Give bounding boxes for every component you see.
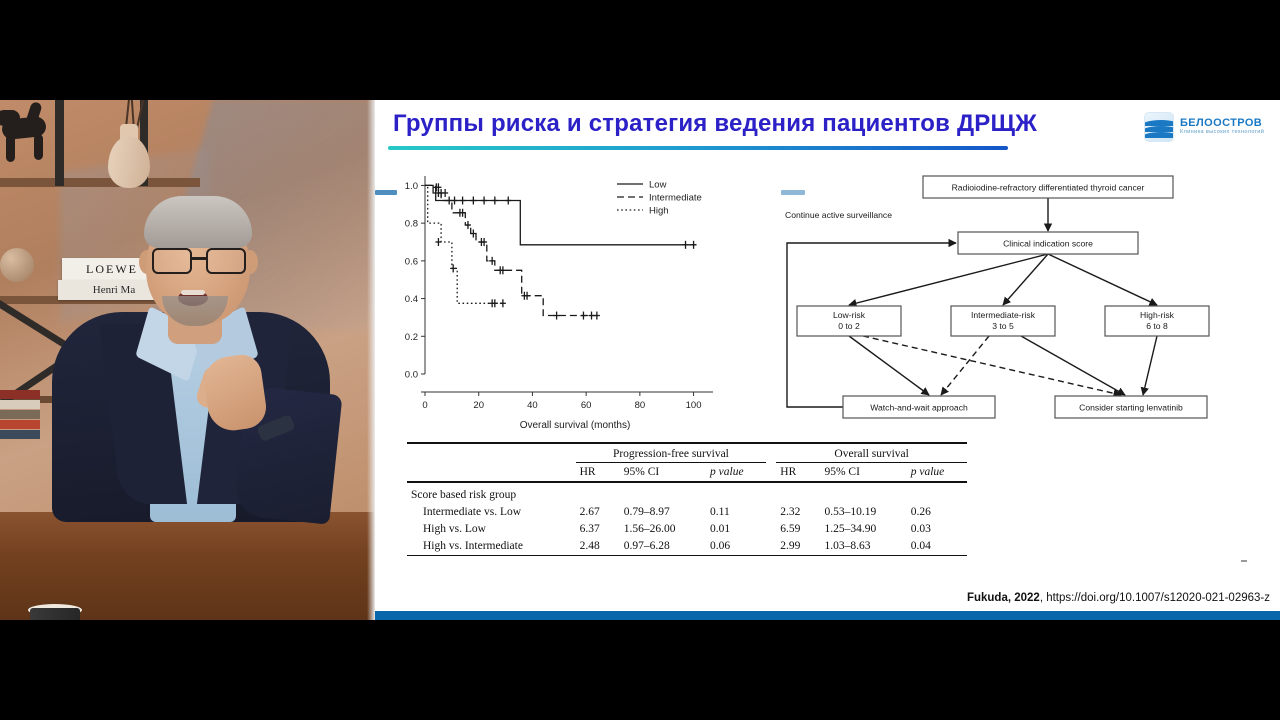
flow-node-high: High-risk6 to 8 xyxy=(1105,306,1209,336)
row-pfs-ci: 1.56–26.00 xyxy=(620,521,706,538)
table-foot xyxy=(407,555,967,559)
y-tick-label: 0.8 xyxy=(405,219,418,230)
hazard-ratio-table: Progression-free survival Overall surviv… xyxy=(407,442,967,559)
km-curve-intermediate xyxy=(425,185,597,315)
table-column-header-row: HR 95% CI p value HR 95% CI p value xyxy=(407,463,967,483)
presentation-slide: Группы риска и стратегия ведения пациент… xyxy=(375,100,1280,620)
table-row: Intermediate vs. Low2.670.79–8.970.112.3… xyxy=(407,504,967,521)
flow-node-watch: Watch-and-wait approach xyxy=(843,396,995,418)
flow-node-label: Intermediate-risk xyxy=(971,310,1036,320)
col-head-pfs-hr: HR xyxy=(576,463,620,483)
presenter-teeth xyxy=(181,290,205,295)
legend-label-intermediate: Intermediate xyxy=(649,193,702,204)
shelf-board-top xyxy=(0,178,200,187)
censor-mark xyxy=(481,197,487,205)
table-bottom-rule xyxy=(407,555,967,559)
censor-mark xyxy=(470,197,476,205)
flow-node-sublabel: 0 to 2 xyxy=(838,321,860,331)
flowchart-nodes: Radioiodine-refractory differentiated th… xyxy=(785,176,1209,418)
row-label: High vs. Low xyxy=(407,521,576,538)
flow-node-low: Low-risk0 to 2 xyxy=(797,306,901,336)
group-header-blank xyxy=(407,443,576,463)
col-head-os-hr: HR xyxy=(776,463,820,483)
logo-wave-line-3 xyxy=(1144,132,1174,138)
table-group-header-row: Progression-free survival Overall surviv… xyxy=(407,443,967,463)
book-spine-red xyxy=(0,390,40,399)
censor-mark xyxy=(492,197,498,205)
flow-edge-label-continue-surveillance: Continue active surveillance xyxy=(785,210,892,220)
group-header-os: Overall survival xyxy=(776,443,967,463)
row-pfs-p: 0.11 xyxy=(706,504,766,521)
edge-intermediate-to-lenvatinib xyxy=(1021,336,1125,395)
row-label: Intermediate vs. Low xyxy=(407,504,576,521)
flow-node-sublabel: 6 to 8 xyxy=(1146,321,1168,331)
presenter-glasses-icon xyxy=(150,248,248,274)
col-head-pfs-p: p value xyxy=(706,463,766,483)
censor-mark xyxy=(500,299,506,307)
citation-doi: , https://doi.org/10.1007/s12020-021-029… xyxy=(1040,592,1270,604)
row-pfs-hr: 6.37 xyxy=(576,521,620,538)
row-pfs-hr: 2.48 xyxy=(576,538,620,556)
balloon-dog-leg-back-icon xyxy=(34,134,43,160)
edge-score-to-low xyxy=(849,254,1048,305)
table-section-label: Score based risk group xyxy=(407,482,967,504)
flow-node-label: High-risk xyxy=(1140,310,1175,320)
edge-low-to-watch xyxy=(849,336,929,395)
y-tick-label: 0.2 xyxy=(405,332,418,343)
row-pfs-p: 0.01 xyxy=(706,521,766,538)
kaplan-meier-survival-chart: 0.00.20.40.60.81.0020406080100 LowInterm… xyxy=(385,162,745,437)
row-pfs-ci: 0.97–6.28 xyxy=(620,538,706,556)
table-row: High vs. Intermediate2.480.97–6.280.062.… xyxy=(407,538,967,556)
flow-node-label: Watch-and-wait approach xyxy=(870,403,968,413)
page-title: Группы риска и стратегия ведения пациент… xyxy=(393,110,1037,138)
logo-tagline: Клиника высоких технологий xyxy=(1180,130,1264,136)
row-os-ci: 1.25–34.90 xyxy=(820,521,906,538)
book-spine-brown xyxy=(0,410,40,419)
flow-node-root: Radioiodine-refractory differentiated th… xyxy=(923,176,1173,198)
censor-mark xyxy=(450,264,456,272)
glasses-lens-left xyxy=(152,248,192,274)
flow-node-inter: Intermediate-risk3 to 5 xyxy=(951,306,1055,336)
x-tick-label: 60 xyxy=(581,400,592,411)
decorative-sphere xyxy=(0,248,34,282)
row-gap xyxy=(766,538,776,556)
x-tick-label: 0 xyxy=(422,400,427,411)
censor-mark xyxy=(683,241,689,249)
col-head-blank xyxy=(407,463,576,483)
logo-text-block: БЕЛООСТРОВ Клиника высоких технологий xyxy=(1180,118,1264,135)
flow-node-label: Radioiodine-refractory differentiated th… xyxy=(952,183,1145,193)
censor-mark xyxy=(580,312,586,320)
row-pfs-hr: 2.67 xyxy=(576,504,620,521)
chart-legend: LowIntermediateHigh xyxy=(617,180,702,217)
y-tick-label: 1.0 xyxy=(405,181,418,192)
slide-footer-bar xyxy=(375,611,1280,620)
y-tick-label: 0.4 xyxy=(405,294,418,305)
glasses-bridge xyxy=(192,257,206,260)
legend-label-high: High xyxy=(649,206,669,217)
km-curve-high xyxy=(425,185,503,303)
row-os-hr: 2.32 xyxy=(776,504,820,521)
y-tick-label: 0.0 xyxy=(405,370,418,381)
col-head-pfs-ci: 95% CI xyxy=(620,463,706,483)
mouse-cursor-artifact xyxy=(1241,560,1247,562)
x-tick-label: 100 xyxy=(686,400,702,411)
row-gap xyxy=(766,521,776,538)
glasses-lens-right xyxy=(206,248,246,274)
shelf-post-left xyxy=(55,100,64,186)
censor-mark xyxy=(594,312,600,320)
presenter-video-feed: LOEWE Henri Ma xyxy=(0,100,375,620)
x-tick-label: 20 xyxy=(473,400,484,411)
row-os-hr: 6.59 xyxy=(776,521,820,538)
legend-label-low: Low xyxy=(649,180,667,191)
treatment-flowchart: Radioiodine-refractory differentiated th… xyxy=(775,170,1275,435)
balloon-dog-head-icon xyxy=(0,110,20,126)
citation-author: Fukuda, 2022 xyxy=(967,592,1040,604)
edge-high-to-lenvatinib xyxy=(1143,336,1157,395)
group-header-pfs: Progression-free survival xyxy=(576,443,767,463)
presenter-hair xyxy=(144,196,252,248)
flow-node-score: Clinical indication score xyxy=(958,232,1138,254)
results-table: Progression-free survival Overall surviv… xyxy=(407,442,967,559)
censor-mark xyxy=(442,189,448,197)
row-os-p: 0.03 xyxy=(907,521,967,538)
table-section-row: Score based risk group xyxy=(407,482,967,504)
edge-intermediate-to-watch-dashed xyxy=(941,336,989,395)
x-tick-label: 40 xyxy=(527,400,538,411)
chart-curves xyxy=(425,183,697,319)
row-os-p: 0.26 xyxy=(907,504,967,521)
y-tick-label: 0.6 xyxy=(405,256,418,267)
edge-score-to-intermediate xyxy=(1003,254,1048,305)
col-head-os-ci: 95% CI xyxy=(820,463,906,483)
row-label: High vs. Intermediate xyxy=(407,538,576,556)
edge-low-to-lenvatinib-dashed xyxy=(863,336,1121,395)
letterbox-bottom xyxy=(0,620,1280,720)
book-spine-orange xyxy=(0,420,40,429)
row-os-hr: 2.99 xyxy=(776,538,820,556)
row-os-ci: 1.03–8.63 xyxy=(820,538,906,556)
censor-mark xyxy=(435,238,441,246)
row-pfs-p: 0.06 xyxy=(706,538,766,556)
censor-mark xyxy=(589,312,595,320)
censor-mark xyxy=(460,197,466,205)
video-feed-right-edge xyxy=(367,100,375,620)
table-row: High vs. Low6.371.56–26.000.016.591.25–3… xyxy=(407,521,967,538)
edge-score-to-high xyxy=(1048,254,1157,305)
row-os-ci: 0.53–10.19 xyxy=(820,504,906,521)
row-gap xyxy=(766,504,776,521)
title-underline-rule xyxy=(388,146,1008,150)
censor-mark xyxy=(505,197,511,205)
flow-node-label: Consider starting lenvatinib xyxy=(1079,403,1183,413)
col-head-os-p: p value xyxy=(907,463,967,483)
clinic-logo: БЕЛООСТРОВ Клиника высоких технологий xyxy=(1144,110,1270,144)
flowchart-edges xyxy=(787,198,1157,407)
chart-x-axis-label: Overall survival (months) xyxy=(520,420,631,431)
book-spine-cream xyxy=(0,400,40,409)
row-pfs-ci: 0.79–8.97 xyxy=(620,504,706,521)
flow-node-lenva: Consider starting lenvatinib xyxy=(1055,396,1207,418)
flow-node-sublabel: 3 to 5 xyxy=(992,321,1014,331)
logo-wave-icon xyxy=(1144,112,1174,142)
flow-node-label: Clinical indication score xyxy=(1003,239,1093,249)
flow-node-label: Low-risk xyxy=(833,310,866,320)
x-tick-label: 80 xyxy=(635,400,646,411)
slide-citation: Fukuda, 2022, https://doi.org/10.1007/s1… xyxy=(967,592,1270,604)
table-head: Progression-free survival Overall surviv… xyxy=(407,443,967,482)
balloon-dog-leg-front-icon xyxy=(6,134,15,162)
book-spine-blue xyxy=(0,430,40,439)
letterbox-top xyxy=(0,0,1280,100)
coffee-cup xyxy=(30,608,80,620)
video-presentation-stage: LOEWE Henri Ma xyxy=(0,0,1280,720)
table-body: Score based risk groupIntermediate vs. L… xyxy=(407,482,967,555)
censor-mark xyxy=(691,241,697,249)
row-os-p: 0.04 xyxy=(907,538,967,556)
book-stack xyxy=(0,390,40,450)
censor-mark xyxy=(554,312,560,320)
